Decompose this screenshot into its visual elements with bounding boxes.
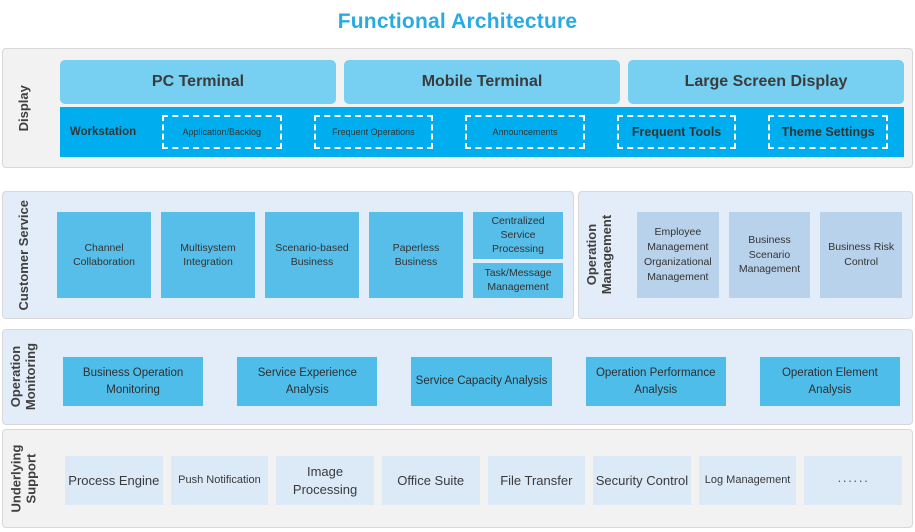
underlying-support-box-more[interactable]: ······ xyxy=(804,456,902,505)
underlying-support-box-image-processing-label: Image Processing xyxy=(278,463,372,498)
underlying-support-box-security-control[interactable]: Security Control xyxy=(593,456,691,505)
workstation-chip-frequent-operations-label: Frequent Operations xyxy=(332,127,415,137)
customer-service-box-paperless-business-label: Paperless Business xyxy=(371,241,461,269)
customer-service-section-label: Customer Service xyxy=(3,192,45,318)
operation-monitoring-items: Business Operation Monitoring Service Ex… xyxy=(63,357,900,406)
workstation-chip-frequent-operations[interactable]: Frequent Operations xyxy=(314,115,434,149)
customer-service-box-paperless-business[interactable]: Paperless Business xyxy=(369,212,463,298)
underlying-support-box-log-management[interactable]: Log Management xyxy=(699,456,797,505)
operation-monitoring-box-operation-performance-analysis[interactable]: Operation Performance Analysis xyxy=(586,357,726,406)
operation-monitoring-section: Operation Monitoring Business Operation … xyxy=(2,329,913,425)
terminal-card-pc-label: PC Terminal xyxy=(152,73,244,91)
customer-service-box-task-message-management-label: Task/Message Management xyxy=(475,266,561,294)
underlying-support-box-push-notification[interactable]: Push Notification xyxy=(171,456,269,505)
operation-management-box-business-risk-control-label: Business Risk Control xyxy=(822,240,900,270)
operation-management-items: Employee Management Organizational Manag… xyxy=(637,212,902,298)
customer-service-box-scenario-based-business-label: Scenario-based Business xyxy=(267,241,357,269)
operation-management-box-business-risk-control[interactable]: Business Risk Control xyxy=(820,212,902,298)
customer-service-section-label-text: Customer Service xyxy=(17,200,32,311)
underlying-support-box-file-transfer[interactable]: File Transfer xyxy=(488,456,586,505)
operation-management-section-label-text: Operation Management xyxy=(585,215,614,294)
operation-monitoring-section-label: Operation Monitoring xyxy=(3,330,45,424)
operation-monitoring-box-service-capacity-analysis-label: Service Capacity Analysis xyxy=(416,373,548,389)
operation-management-box-business-scenario-management[interactable]: Business Scenario Management xyxy=(729,212,811,298)
operation-monitoring-box-service-experience-analysis-label: Service Experience Analysis xyxy=(239,365,375,397)
underlying-support-box-file-transfer-label: File Transfer xyxy=(500,472,572,490)
operation-monitoring-box-operation-element-analysis-label: Operation Element Analysis xyxy=(762,365,898,397)
operation-monitoring-section-label-text: Operation Monitoring xyxy=(9,343,38,410)
display-section-label-text: Display xyxy=(17,85,32,131)
underlying-support-box-process-engine-label: Process Engine xyxy=(68,472,159,490)
workstation-chip-application-backlog-label: Application/Backlog xyxy=(183,127,262,137)
operation-monitoring-box-service-experience-analysis[interactable]: Service Experience Analysis xyxy=(237,357,377,406)
underlying-support-box-process-engine[interactable]: Process Engine xyxy=(65,456,163,505)
operation-management-box-employee-management[interactable]: Employee Management Organizational Manag… xyxy=(637,212,719,298)
operation-monitoring-box-operation-element-analysis[interactable]: Operation Element Analysis xyxy=(760,357,900,406)
terminal-card-mobile-label: Mobile Terminal xyxy=(422,73,543,91)
customer-service-section: Customer Service Channel Collaboration M… xyxy=(2,191,574,319)
terminal-card-large-screen[interactable]: Large Screen Display xyxy=(628,60,904,104)
underlying-support-box-log-management-label: Log Management xyxy=(705,473,791,488)
workstation-label: Workstation xyxy=(60,126,146,138)
workstation-chip-application-backlog[interactable]: Application/Backlog xyxy=(162,115,282,149)
underlying-support-section: Underlying Support Process Engine Push N… xyxy=(2,429,913,528)
customer-service-stack: Centralized Service Processing Task/Mess… xyxy=(473,212,563,298)
customer-service-box-channel-collaboration-label: Channel Collaboration xyxy=(59,241,149,269)
workstation-chip-theme-settings[interactable]: Theme Settings xyxy=(768,115,888,149)
workstation-chip-announcements[interactable]: Announcements xyxy=(465,115,585,149)
underlying-support-box-image-processing[interactable]: Image Processing xyxy=(276,456,374,505)
display-section-label: Display xyxy=(3,49,45,167)
operation-monitoring-box-service-capacity-analysis[interactable]: Service Capacity Analysis xyxy=(411,357,551,406)
customer-service-box-multisystem-integration[interactable]: Multisystem Integration xyxy=(161,212,255,298)
workstation-row: Workstation Application/Backlog Frequent… xyxy=(60,107,904,157)
operation-monitoring-box-business-operation-monitoring-label: Business Operation Monitoring xyxy=(65,365,201,397)
terminal-card-pc[interactable]: PC Terminal xyxy=(60,60,336,104)
customer-service-box-scenario-based-business[interactable]: Scenario-based Business xyxy=(265,212,359,298)
workstation-chip-announcements-label: Announcements xyxy=(492,127,557,137)
underlying-support-box-more-label: ······ xyxy=(837,472,869,490)
customer-service-box-multisystem-integration-label: Multisystem Integration xyxy=(163,241,253,269)
operation-management-section-label: Operation Management xyxy=(579,192,621,318)
workstation-items: Application/Backlog Frequent Operations … xyxy=(146,107,904,157)
workstation-chip-frequent-tools-label: Frequent Tools xyxy=(632,125,721,139)
operation-management-box-employee-management-label: Employee Management Organizational Manag… xyxy=(639,225,717,285)
workstation-chip-frequent-tools[interactable]: Frequent Tools xyxy=(617,115,737,149)
terminal-card-mobile[interactable]: Mobile Terminal xyxy=(344,60,620,104)
underlying-support-box-office-suite[interactable]: Office Suite xyxy=(382,456,480,505)
terminal-row: PC Terminal Mobile Terminal Large Screen… xyxy=(60,60,904,104)
customer-service-box-task-message-management[interactable]: Task/Message Management xyxy=(473,263,563,298)
customer-service-box-channel-collaboration[interactable]: Channel Collaboration xyxy=(57,212,151,298)
workstation-chip-theme-settings-label: Theme Settings xyxy=(782,125,875,139)
underlying-support-section-label: Underlying Support xyxy=(3,430,45,527)
underlying-support-items: Process Engine Push Notification Image P… xyxy=(65,456,902,505)
display-section: Display PC Terminal Mobile Terminal Larg… xyxy=(2,48,913,168)
customer-service-box-centralized-service-processing-label: Centralized Service Processing xyxy=(475,214,561,257)
customer-service-box-centralized-service-processing[interactable]: Centralized Service Processing xyxy=(473,212,563,259)
underlying-support-box-security-control-label: Security Control xyxy=(596,472,688,490)
underlying-support-box-push-notification-label: Push Notification xyxy=(178,473,261,488)
terminal-card-large-screen-label: Large Screen Display xyxy=(685,73,848,91)
underlying-support-section-label-text: Underlying Support xyxy=(9,445,38,513)
customer-service-items: Channel Collaboration Multisystem Integr… xyxy=(57,212,563,298)
operation-management-section: Operation Management Employee Management… xyxy=(578,191,913,319)
page-title: Functional Architecture xyxy=(0,10,915,34)
underlying-support-box-office-suite-label: Office Suite xyxy=(397,472,464,490)
operation-monitoring-box-operation-performance-analysis-label: Operation Performance Analysis xyxy=(588,365,724,397)
operation-monitoring-box-business-operation-monitoring[interactable]: Business Operation Monitoring xyxy=(63,357,203,406)
operation-management-box-business-scenario-management-label: Business Scenario Management xyxy=(731,233,809,278)
